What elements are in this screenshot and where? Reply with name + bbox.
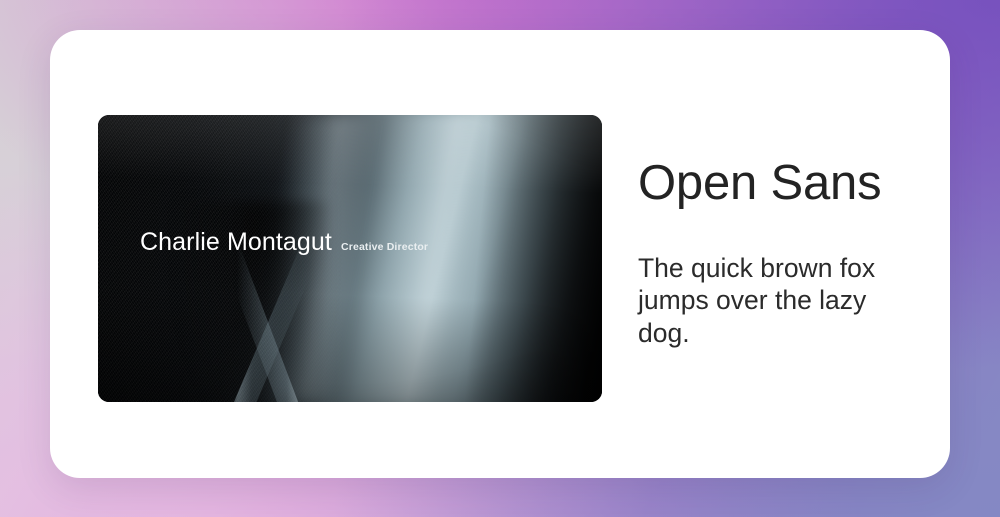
page-backdrop: Charlie Montagut Creative Director Open … bbox=[0, 0, 1000, 517]
pangram-line-2: jumps over the lazy dog. bbox=[638, 284, 906, 349]
font-family-name: Open Sans bbox=[638, 158, 918, 210]
font-specimen-preview-card[interactable]: Charlie Montagut Creative Director bbox=[98, 115, 602, 402]
artwork-vignette bbox=[98, 115, 602, 402]
content-surface: Charlie Montagut Creative Director Open … bbox=[50, 30, 950, 478]
specimen-person-role: Creative Director bbox=[341, 242, 428, 253]
specimen-person-name: Charlie Montagut bbox=[140, 230, 332, 255]
font-info-panel: Open Sans The quick brown fox jumps over… bbox=[638, 158, 918, 349]
specimen-caption: Charlie Montagut Creative Director bbox=[140, 230, 428, 255]
pangram-line-1: The quick brown fox bbox=[638, 252, 906, 284]
font-pangram-sample: The quick brown fox jumps over the lazy … bbox=[638, 252, 906, 349]
